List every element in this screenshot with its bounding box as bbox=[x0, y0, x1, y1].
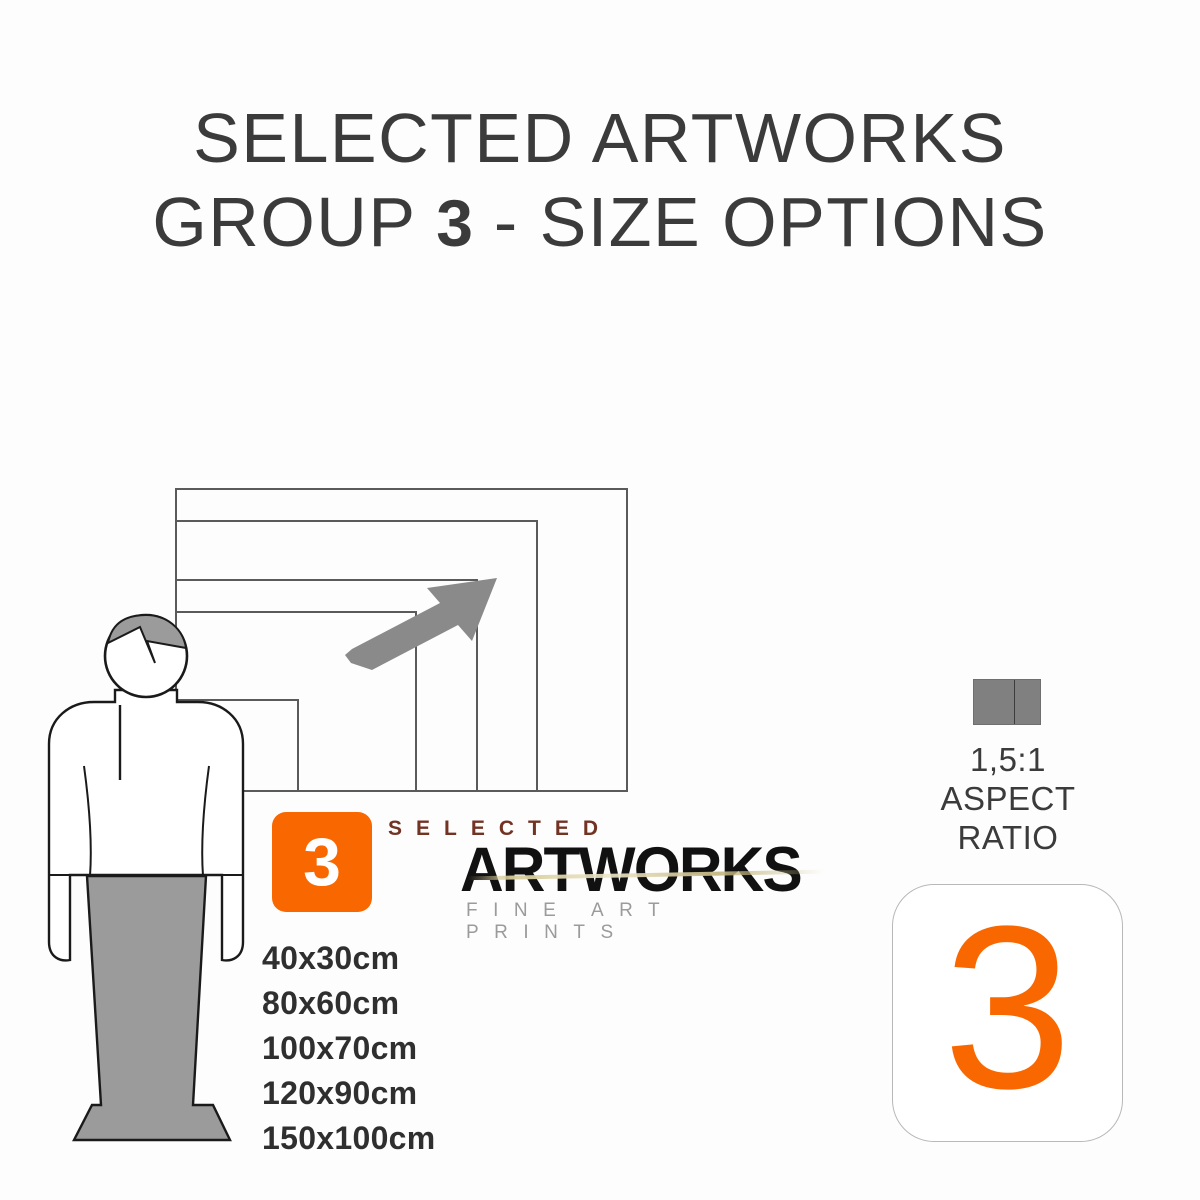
logo-group-badge: 3 bbox=[272, 812, 372, 912]
title-group-suffix: - SIZE OPTIONS bbox=[473, 183, 1048, 261]
group-number-tile-value: 3 bbox=[893, 892, 1122, 1124]
growth-arrow-icon bbox=[345, 578, 497, 670]
title-group-prefix: GROUP bbox=[152, 183, 436, 261]
frame-40x30-rect bbox=[176, 700, 298, 791]
figure-skirt bbox=[74, 876, 230, 1140]
page-title: SELECTED ARTWORKS GROUP 3 - SIZE OPTIONS bbox=[0, 96, 1200, 265]
figure-arm-line-right bbox=[202, 766, 209, 876]
size-option-3: 100x70cm bbox=[262, 1026, 682, 1071]
frame-80x60-rect bbox=[176, 612, 416, 791]
size-option-4: 120x90cm bbox=[262, 1071, 682, 1116]
size-option-2: 80x60cm bbox=[262, 981, 682, 1026]
aspect-ratio-label: 1,5:1 ASPECT RATIO bbox=[880, 740, 1136, 857]
group-number-tile[interactable]: 3 bbox=[892, 884, 1123, 1142]
poster-canvas: SELECTED ARTWORKS GROUP 3 - SIZE OPTIONS bbox=[0, 0, 1200, 1200]
logo-group-badge-number: 3 bbox=[272, 812, 372, 912]
frame-100x70-rect bbox=[176, 580, 477, 791]
figure-hair bbox=[108, 615, 186, 663]
size-option-1: 40x30cm bbox=[262, 936, 682, 981]
size-option-5: 150x100cm bbox=[262, 1116, 682, 1161]
size-options-list: 40x30cm 80x60cm 100x70cm 120x90cm 150x10… bbox=[262, 936, 682, 1161]
frame-rectangles bbox=[176, 489, 627, 791]
aspect-ratio-word-1: ASPECT bbox=[880, 779, 1136, 818]
aspect-ratio-value: 1,5:1 bbox=[880, 740, 1136, 779]
brand-logo[interactable]: 3 SELECTED ARTWORKS FINE ART PRINTS bbox=[272, 812, 832, 924]
human-scale-figure bbox=[49, 615, 243, 1140]
title-line-1: SELECTED ARTWORKS bbox=[0, 96, 1200, 180]
aspect-ratio-icon bbox=[973, 679, 1041, 725]
aspect-ratio-icon-divider bbox=[1014, 680, 1015, 724]
frame-120x90-rect bbox=[176, 521, 537, 791]
frame-150x100-rect bbox=[176, 489, 627, 791]
figure-torso bbox=[49, 690, 243, 960]
aspect-ratio-word-2: RATIO bbox=[880, 818, 1136, 857]
figure-arm-line-left bbox=[84, 766, 91, 876]
title-line-2: GROUP 3 - SIZE OPTIONS bbox=[0, 180, 1200, 265]
title-group-number: 3 bbox=[436, 186, 473, 260]
figure-head bbox=[105, 615, 187, 697]
